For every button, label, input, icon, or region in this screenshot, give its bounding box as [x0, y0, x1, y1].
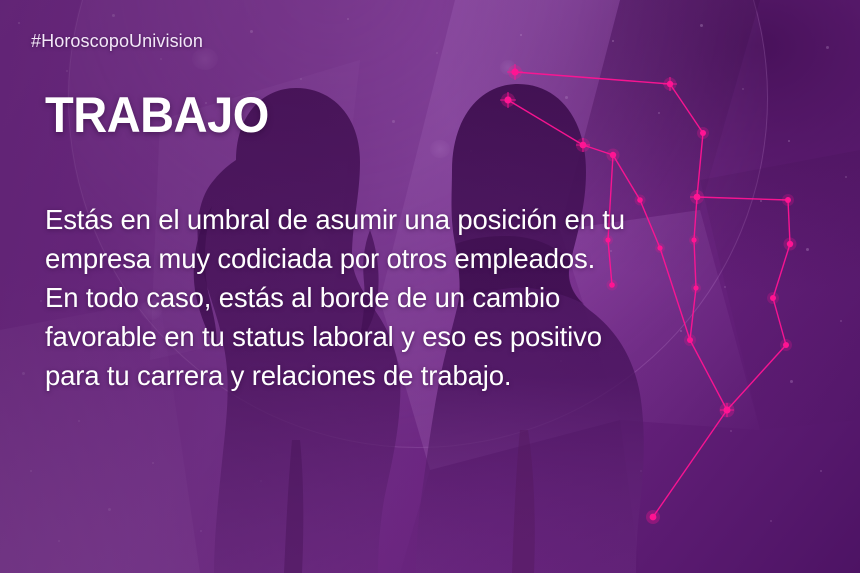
horoscope-card: #HoroscopoUnivision TRABAJO Estás en el … — [0, 0, 860, 573]
body-line: Estás en el umbral de asumir una posició… — [45, 200, 785, 239]
page-title: TRABAJO — [45, 89, 269, 141]
card-content: #HoroscopoUnivision TRABAJO Estás en el … — [0, 0, 860, 573]
hashtag-label: #HoroscopoUnivision — [31, 31, 203, 52]
body-line: para tu carrera y relaciones de trabajo. — [45, 356, 785, 395]
horoscope-body-text: Estás en el umbral de asumir una posició… — [45, 200, 785, 395]
body-line: favorable en tu status laboral y eso es … — [45, 317, 785, 356]
body-line: empresa muy codiciada por otros empleado… — [45, 239, 785, 278]
body-line: En todo caso, estás al borde de un cambi… — [45, 278, 785, 317]
